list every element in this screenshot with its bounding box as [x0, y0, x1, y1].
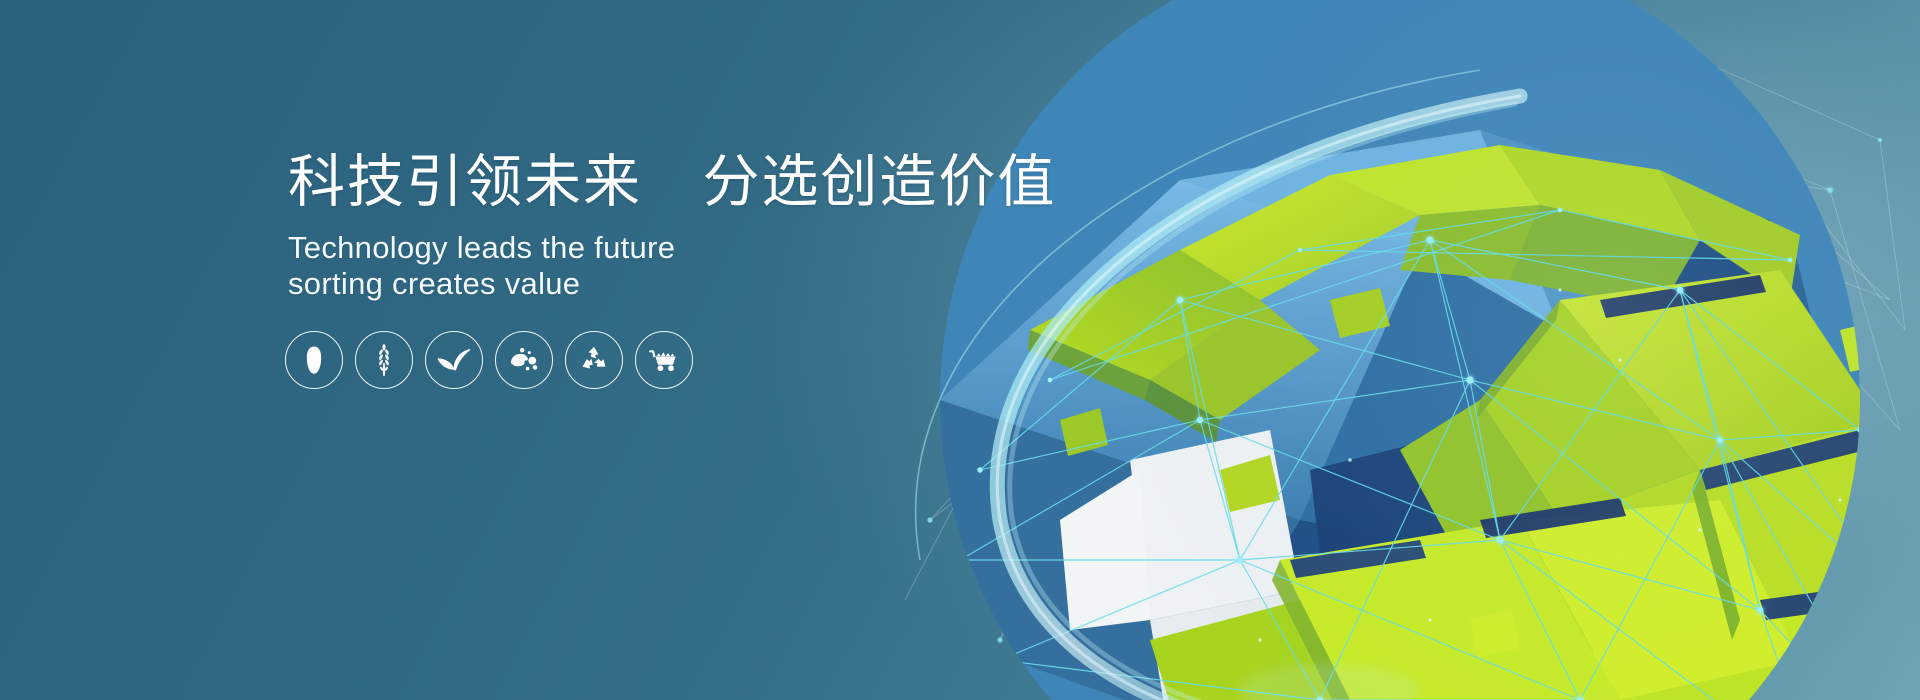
- icon-button-recycle[interactable]: [565, 331, 623, 389]
- mining-cart-icon: [648, 347, 680, 373]
- icon-button-nut[interactable]: [495, 331, 553, 389]
- banner-copy: 科技引领未来 分选创造价值 Technology leads the futur…: [288, 152, 1048, 301]
- hero-banner: 科技引领未来 分选创造价值 Technology leads the futur…: [0, 0, 1920, 700]
- banner-headline: 科技引领未来 分选创造价值: [288, 152, 1048, 214]
- banner-subtitle-line-1: Technology leads the future: [288, 230, 1048, 266]
- wheat-icon: [369, 343, 399, 377]
- icon-button-rice-grain[interactable]: [285, 331, 343, 389]
- nut-icon: [508, 346, 540, 374]
- icon-button-wheat[interactable]: [355, 331, 413, 389]
- rice-grain-icon: [301, 345, 327, 375]
- industry-icon-row: [285, 331, 693, 389]
- recycle-icon: [579, 345, 609, 375]
- icon-button-mining-cart[interactable]: [635, 331, 693, 389]
- banner-subtitle: Technology leads the future sorting crea…: [288, 230, 1048, 302]
- banner-subtitle-line-2: sorting creates value: [288, 266, 1048, 302]
- icon-button-leaf[interactable]: [425, 331, 483, 389]
- leaf-icon: [437, 347, 471, 373]
